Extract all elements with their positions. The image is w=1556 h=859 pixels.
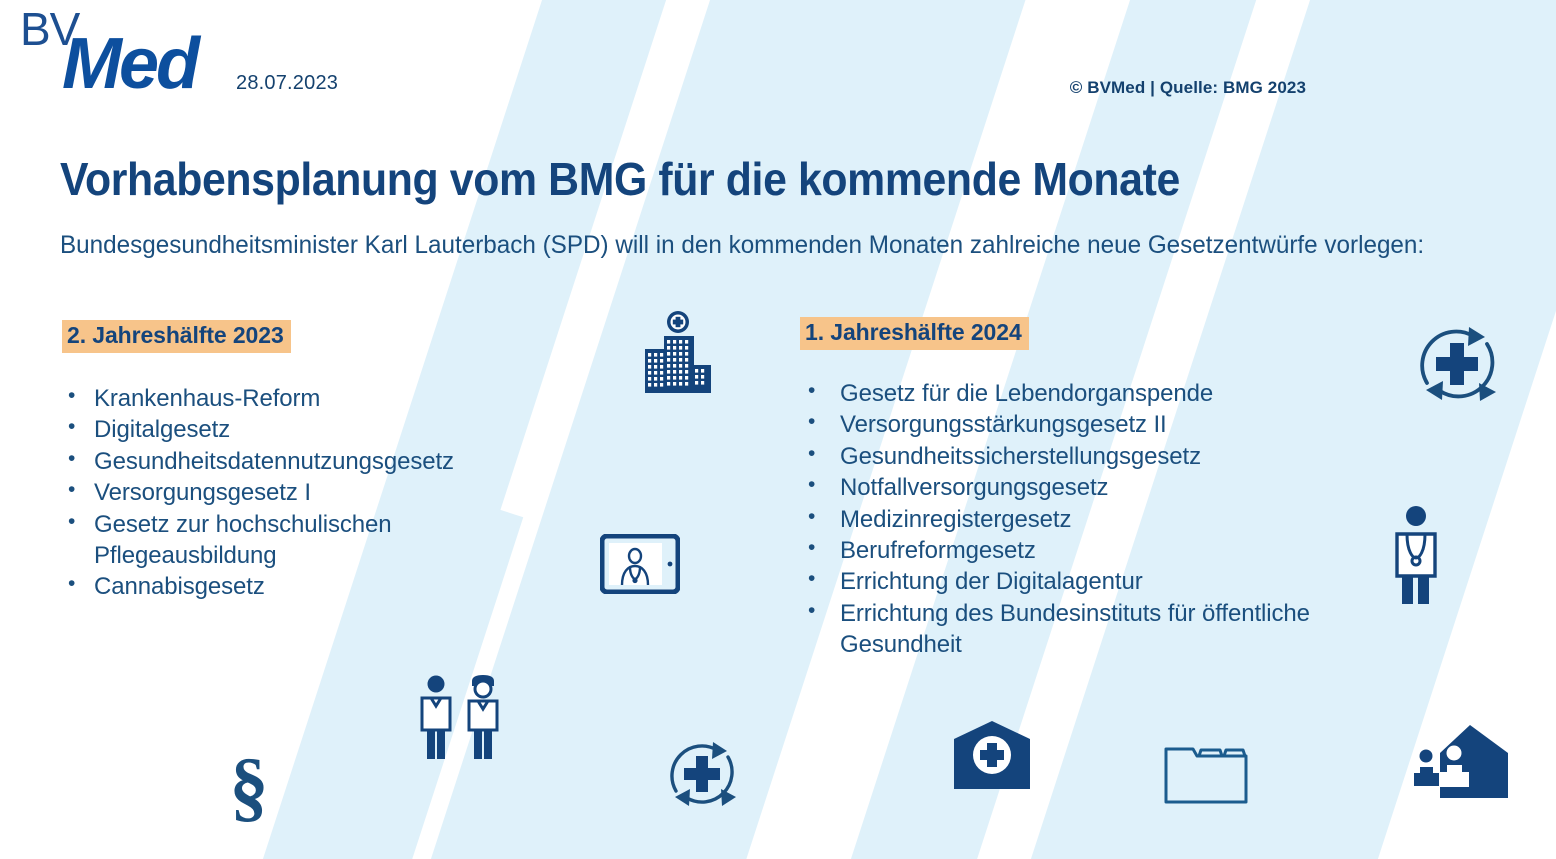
list-item: Krankenhaus-Reform (62, 383, 542, 414)
list-item: Digitalgesetz (62, 414, 542, 445)
svg-text:§: § (230, 748, 269, 824)
list-item: Errichtung des Bundesinstituts für öffen… (800, 598, 1320, 661)
clinic-shield-icon (952, 719, 1032, 791)
list-item: Versorgungsgesetz I (62, 477, 542, 508)
hospital-building-icon (640, 311, 716, 401)
doctor-nurse-icon (414, 672, 508, 764)
medical-cycle-large-icon (1408, 314, 1506, 414)
infographic-slide: BV Med 28.07.2023 © BVMed | Quelle: BMG … (0, 0, 1556, 859)
list-item: Medizinregistergesetz (800, 504, 1320, 535)
copyright-source: © BVMed | Quelle: BMG 2023 (1070, 78, 1306, 98)
section-paragraph-icon: § (222, 748, 276, 824)
list-item: Cannabisgesetz (62, 571, 542, 602)
column-second-half-2023: 2. Jahreshälfte 2023 Krankenhaus-Reform … (62, 320, 542, 603)
list-item: Gesundheitssicherstellungsgesetz (800, 441, 1320, 472)
list-item: Versorgungsstärkungsgesetz II (800, 409, 1320, 440)
clinic-house-icon (1412, 722, 1510, 806)
list-item: Notfallversorgungsgesetz (800, 472, 1320, 503)
telemedicine-tablet-icon (600, 534, 680, 594)
list-item: Gesetz zur hochschulischen Pflegeausbild… (62, 509, 542, 572)
list-item: Gesetz für die Lebendorganspende (800, 378, 1320, 409)
list-item: Errichtung der Digitalagentur (800, 566, 1320, 597)
doctor-figure-icon (1386, 502, 1446, 606)
folder-icon (1163, 739, 1249, 805)
column-first-half-2024: 1. Jahreshälfte 2024 Gesetz für die Lebe… (800, 317, 1320, 661)
bvmed-logo: BV Med (14, 6, 234, 98)
page-title: Vorhabensplanung vom BMG für die kommend… (60, 155, 1390, 205)
bill-list: Gesetz für die Lebendorganspende Versorg… (800, 378, 1320, 661)
slide-header: BV Med 28.07.2023 © BVMed | Quelle: BMG … (0, 0, 1556, 130)
column-heading: 1. Jahreshälfte 2024 (800, 317, 1029, 350)
bill-list: Krankenhaus-Reform Digitalgesetz Gesundh… (62, 383, 542, 603)
medical-cycle-icon (659, 730, 745, 818)
list-item: Gesundheitsdatennutzungsgesetz (62, 446, 542, 477)
publication-date: 28.07.2023 (236, 72, 338, 95)
list-item: Berufreformgesetz (800, 535, 1320, 566)
logo-text-med: Med (62, 28, 197, 100)
column-heading: 2. Jahreshälfte 2023 (62, 320, 291, 353)
page-subtitle: Bundesgesundheitsminister Karl Lauterbac… (60, 228, 1437, 263)
